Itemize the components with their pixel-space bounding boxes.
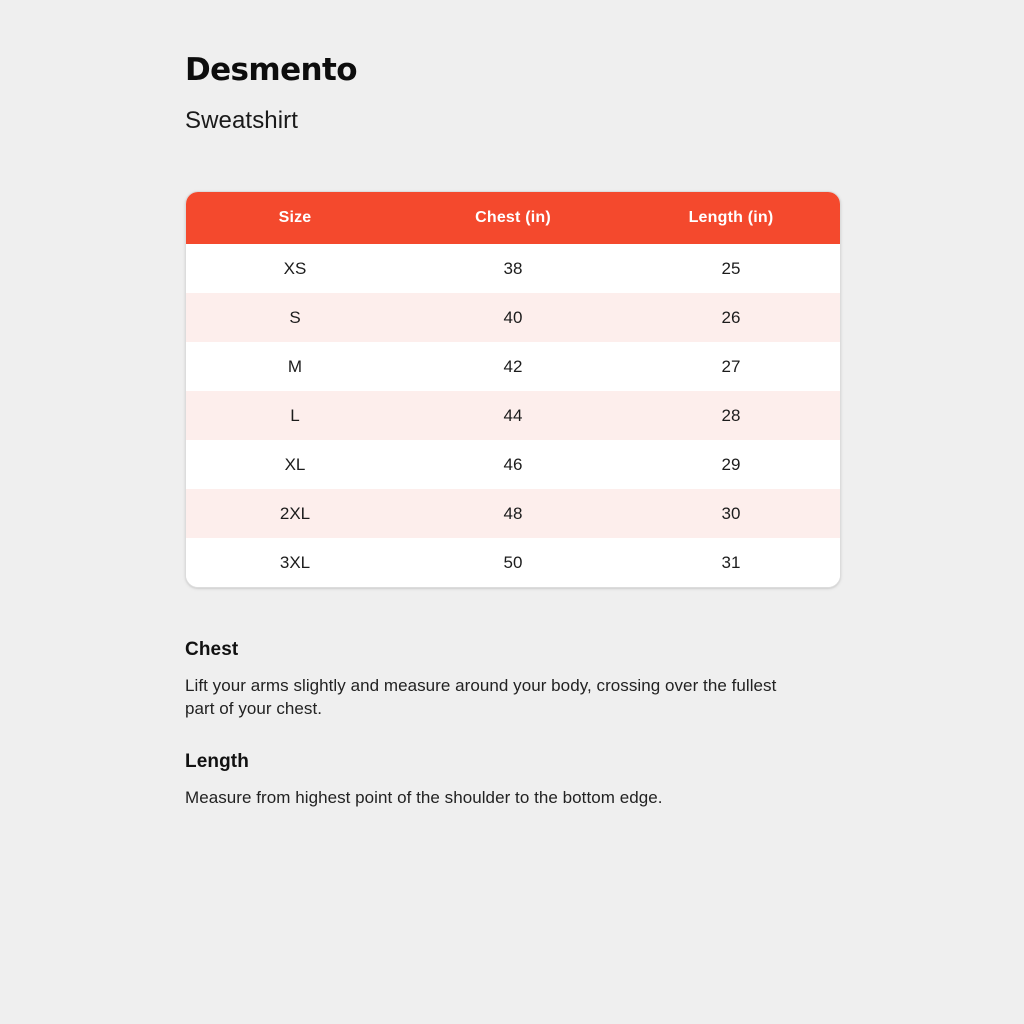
cell-chest: 44 <box>404 391 622 440</box>
cell-chest: 50 <box>404 538 622 587</box>
note-body-chest: Lift your arms slightly and measure arou… <box>185 674 810 721</box>
cell-size: 3XL <box>186 538 404 587</box>
cell-chest: 38 <box>404 244 622 293</box>
table-header-row: Size Chest (in) Length (in) <box>186 192 840 244</box>
size-chart-body: XS 38 25 S 40 26 M 42 27 L 44 28 <box>186 244 840 587</box>
column-header-length: Length (in) <box>622 192 840 244</box>
note-body-length: Measure from highest point of the should… <box>185 786 810 809</box>
table-row: XL 46 29 <box>186 440 840 489</box>
table-row: S 40 26 <box>186 293 840 342</box>
size-chart-head: Size Chest (in) Length (in) <box>186 192 840 244</box>
table-row: 2XL 48 30 <box>186 489 840 538</box>
note-chest: Chest Lift your arms slightly and measur… <box>185 639 810 721</box>
note-heading-chest: Chest <box>185 639 810 662</box>
note-heading-length: Length <box>185 751 810 774</box>
cell-length: 29 <box>622 440 840 489</box>
cell-chest: 48 <box>404 489 622 538</box>
measurement-notes: Chest Lift your arms slightly and measur… <box>185 639 810 809</box>
cell-length: 30 <box>622 489 840 538</box>
size-chart-card: Size Chest (in) Length (in) XS 38 25 S 4… <box>185 191 841 588</box>
cell-size: S <box>186 293 404 342</box>
cell-chest: 40 <box>404 293 622 342</box>
table-row: L 44 28 <box>186 391 840 440</box>
cell-size: XS <box>186 244 404 293</box>
cell-length: 25 <box>622 244 840 293</box>
column-header-chest: Chest (in) <box>404 192 622 244</box>
cell-size: M <box>186 342 404 391</box>
product-title: Sweatshirt <box>185 107 357 136</box>
cell-chest: 46 <box>404 440 622 489</box>
table-row: 3XL 50 31 <box>186 538 840 587</box>
cell-length: 27 <box>622 342 840 391</box>
cell-length: 26 <box>622 293 840 342</box>
cell-size: L <box>186 391 404 440</box>
table-row: M 42 27 <box>186 342 840 391</box>
brand-wordmark: Desmento <box>185 54 357 87</box>
cell-size: XL <box>186 440 404 489</box>
brand-block: Desmento Sweatshirt <box>185 54 357 135</box>
cell-length: 31 <box>622 538 840 587</box>
cell-length: 28 <box>622 391 840 440</box>
column-header-size: Size <box>186 192 404 244</box>
size-guide-page: Desmento Sweatshirt Size Chest (in) Leng… <box>0 0 1024 1024</box>
size-chart-table: Size Chest (in) Length (in) XS 38 25 S 4… <box>186 192 840 587</box>
cell-chest: 42 <box>404 342 622 391</box>
note-length: Length Measure from highest point of the… <box>185 751 810 809</box>
table-row: XS 38 25 <box>186 244 840 293</box>
cell-size: 2XL <box>186 489 404 538</box>
